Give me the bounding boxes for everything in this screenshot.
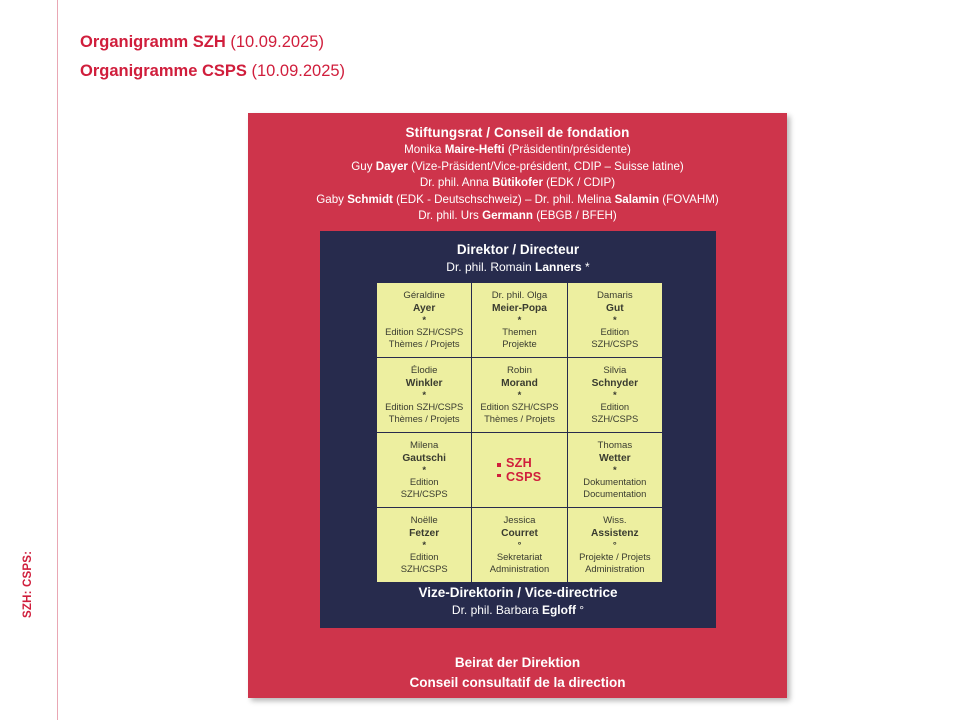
staff-cell: GéraldineAyer*Edition SZH/CSPSThèmes / P…: [377, 283, 471, 357]
staff-role-line: Edition: [410, 476, 439, 488]
szh-csps-logo: SZHCSPS: [472, 433, 566, 507]
logo-line-szh: SZH: [506, 456, 542, 471]
staff-language-marker: *: [518, 315, 522, 326]
page-title-strong: Organigramme CSPS: [80, 62, 247, 80]
staff-language-marker: *: [613, 465, 617, 476]
staff-first-name: Thomas: [598, 440, 633, 452]
foundation-board-block: Stiftungsrat / Conseil de fondation Moni…: [248, 113, 787, 225]
staff-role-line: Thèmes / Projets: [389, 413, 460, 425]
page-title-date: (10.09.2025): [226, 33, 324, 51]
vertical-brand-label: SZH: CSPS:: [19, 488, 37, 618]
staff-language-marker: *: [613, 315, 617, 326]
staff-cell: ÉlodieWinkler*Edition SZH/CSPSThèmes / P…: [377, 358, 471, 432]
staff-cell: RobinMorand*Edition SZH/CSPSThèmes / Pro…: [472, 358, 566, 432]
page-title-strong: Organigramm SZH: [80, 33, 226, 51]
staff-role-line: Projekte: [502, 338, 536, 350]
staff-role-line: Projekte / Projets: [579, 551, 650, 563]
staff-language-marker: *: [422, 540, 426, 551]
vice-director-block: Vize-Direktorin / Vice-directrice Dr. ph…: [320, 583, 716, 619]
staff-first-name: Jessica: [503, 515, 535, 527]
director-name: Dr. phil. Romain Lanners *: [320, 259, 716, 276]
staff-role-line: Edition: [600, 401, 629, 413]
advisory-board-title-de: Beirat der Direktion: [248, 653, 787, 673]
staff-last-name: Wetter: [599, 452, 631, 465]
staff-last-name: Winkler: [406, 377, 443, 390]
staff-cell: JessicaCourret°SekretariatAdministration: [472, 508, 566, 582]
foundation-board-member: Gaby Schmidt (EDK - Deutschschweiz) – Dr…: [248, 192, 787, 209]
staff-first-name: Dr. phil. Olga: [492, 290, 547, 302]
staff-cell: DamarisGut*EditionSZH/CSPS: [568, 283, 662, 357]
staff-role-line: Thèmes / Projets: [389, 338, 460, 350]
foundation-board-member: Guy Dayer (Vize-Präsident/Vice-président…: [248, 159, 787, 176]
logo-line-csps: CSPS: [506, 470, 542, 485]
staff-role-line: Edition SZH/CSPS: [385, 401, 463, 413]
foundation-board-member: Dr. phil. Anna Bütikofer (EDK / CDIP): [248, 175, 787, 192]
page-title-line-1: Organigramm SZH (10.09.2025): [80, 28, 600, 57]
advisory-board-block: Beirat der Direktion Conseil consultatif…: [248, 653, 787, 693]
foundation-board-member: Dr. phil. Urs Germann (EBGB / BFEH): [248, 208, 787, 225]
staff-first-name: Noëlle: [411, 515, 438, 527]
staff-role-line: Sekretariat: [497, 551, 542, 563]
staff-last-name: Schnyder: [592, 377, 638, 390]
staff-role-line: Administration: [490, 563, 549, 575]
staff-cell: Wiss.Assistenz°Projekte / ProjetsAdminis…: [568, 508, 662, 582]
organigram-card: Stiftungsrat / Conseil de fondation Moni…: [248, 113, 787, 698]
staff-last-name: Gut: [606, 302, 624, 315]
staff-role-line: Dokumentation: [583, 476, 646, 488]
staff-last-name: Fetzer: [409, 527, 439, 540]
logo-dot-icon: [497, 463, 501, 467]
foundation-board-member-list: Monika Maire-Hefti (Präsidentin/présiden…: [248, 142, 787, 225]
staff-role-line: Edition: [410, 551, 439, 563]
foundation-board-title: Stiftungsrat / Conseil de fondation: [248, 123, 787, 142]
staff-language-marker: *: [422, 465, 426, 476]
direction-card: Direktor / Directeur Dr. phil. Romain La…: [320, 231, 716, 628]
staff-language-marker: °: [613, 540, 617, 551]
left-vertical-rule: [57, 0, 58, 720]
staff-last-name: Morand: [501, 377, 538, 390]
staff-role-line: Edition: [600, 326, 629, 338]
logo-wordmark: SZHCSPS: [506, 456, 542, 485]
staff-cell: ThomasWetter*DokumentationDocumentation: [568, 433, 662, 507]
page-title-date: (10.09.2025): [247, 62, 345, 80]
staff-first-name: Milena: [410, 440, 438, 452]
staff-language-marker: *: [422, 315, 426, 326]
staff-language-marker: °: [518, 540, 522, 551]
staff-grid: GéraldineAyer*Edition SZH/CSPSThèmes / P…: [376, 282, 663, 583]
staff-role-line: SZH/CSPS: [401, 563, 448, 575]
staff-cell: Dr. phil. OlgaMeier-Popa*ThemenProjekte: [472, 283, 566, 357]
logo-dot-icon: [497, 474, 501, 478]
staff-first-name: Silvia: [603, 365, 626, 377]
staff-role-line: SZH/CSPS: [401, 488, 448, 500]
staff-language-marker: *: [518, 390, 522, 401]
staff-first-name: Géraldine: [403, 290, 445, 302]
staff-language-marker: *: [613, 390, 617, 401]
vice-director-name: Dr. phil. Barbara Egloff °: [320, 602, 716, 619]
staff-last-name: Assistenz: [591, 527, 639, 540]
staff-role-line: SZH/CSPS: [591, 413, 638, 425]
logo-dots-icon: [497, 463, 501, 477]
staff-cell: SilviaSchnyder*EditionSZH/CSPS: [568, 358, 662, 432]
page-title-line-2: Organigramme CSPS (10.09.2025): [80, 57, 600, 86]
staff-language-marker: *: [422, 390, 426, 401]
staff-cell: NoëlleFetzer*EditionSZH/CSPS: [377, 508, 471, 582]
advisory-board-title-fr: Conseil consultatif de la direction: [248, 673, 787, 693]
staff-role-line: Thèmes / Projets: [484, 413, 555, 425]
staff-role-line: Edition SZH/CSPS: [480, 401, 558, 413]
staff-role-line: Edition SZH/CSPS: [385, 326, 463, 338]
director-title: Direktor / Directeur: [320, 240, 716, 259]
staff-last-name: Gautschi: [402, 452, 446, 465]
vice-director-title: Vize-Direktorin / Vice-directrice: [320, 583, 716, 602]
staff-last-name: Courret: [501, 527, 538, 540]
staff-cell: MilenaGautschi*EditionSZH/CSPS: [377, 433, 471, 507]
staff-first-name: Wiss.: [603, 515, 626, 527]
staff-first-name: Robin: [507, 365, 532, 377]
staff-role-line: SZH/CSPS: [591, 338, 638, 350]
staff-last-name: Meier-Popa: [492, 302, 547, 315]
staff-first-name: Élodie: [411, 365, 438, 377]
staff-role-line: Administration: [585, 563, 644, 575]
staff-first-name: Damaris: [597, 290, 633, 302]
foundation-board-member: Monika Maire-Hefti (Präsidentin/présiden…: [248, 142, 787, 159]
page-title-group: Organigramm SZH (10.09.2025)Organigramme…: [80, 28, 600, 86]
staff-role-line: Documentation: [583, 488, 646, 500]
director-block: Direktor / Directeur Dr. phil. Romain La…: [320, 231, 716, 276]
staff-last-name: Ayer: [413, 302, 435, 315]
staff-role-line: Themen: [502, 326, 536, 338]
